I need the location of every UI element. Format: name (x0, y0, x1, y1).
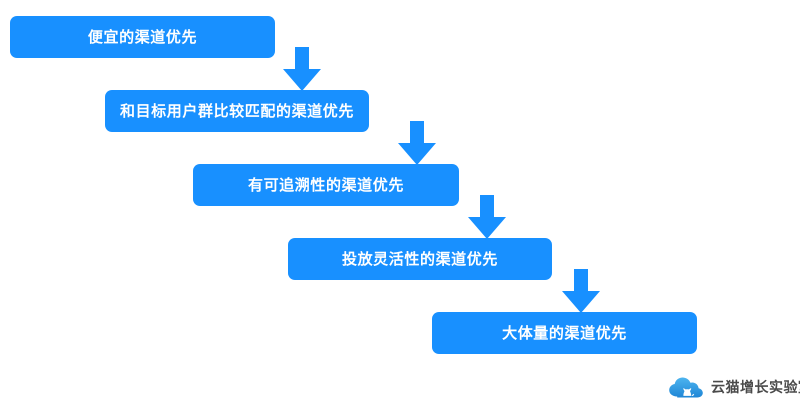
flow-step-label-5: 大体量的渠道优先 (502, 326, 627, 341)
watermark-logo: 云猫增长实验室 (668, 375, 800, 399)
flow-step-label-3: 有可追溯性的渠道优先 (248, 178, 404, 193)
arrow-down-icon-2 (398, 121, 436, 165)
cloud-cat-icon (668, 375, 704, 399)
flow-step-label-2: 和目标用户群比较匹配的渠道优先 (120, 104, 354, 119)
flow-step-box-1[interactable]: 便宜的渠道优先 (10, 16, 275, 58)
flow-step-box-2[interactable]: 和目标用户群比较匹配的渠道优先 (105, 90, 369, 132)
arrow-down-icon-1 (283, 47, 321, 91)
diagram-canvas: 便宜的渠道优先 和目标用户群比较匹配的渠道优先 有可追溯性的渠道优先 投放灵活性… (0, 0, 800, 405)
arrow-down-icon-4 (562, 269, 600, 313)
flow-step-label-4: 投放灵活性的渠道优先 (342, 252, 498, 267)
watermark-text: 云猫增长实验室 (711, 380, 800, 394)
flow-step-box-3[interactable]: 有可追溯性的渠道优先 (193, 164, 459, 206)
flow-step-label-1: 便宜的渠道优先 (88, 30, 197, 45)
flow-step-box-4[interactable]: 投放灵活性的渠道优先 (288, 238, 552, 280)
arrow-down-icon-3 (468, 195, 506, 239)
flow-step-box-5[interactable]: 大体量的渠道优先 (432, 312, 697, 354)
